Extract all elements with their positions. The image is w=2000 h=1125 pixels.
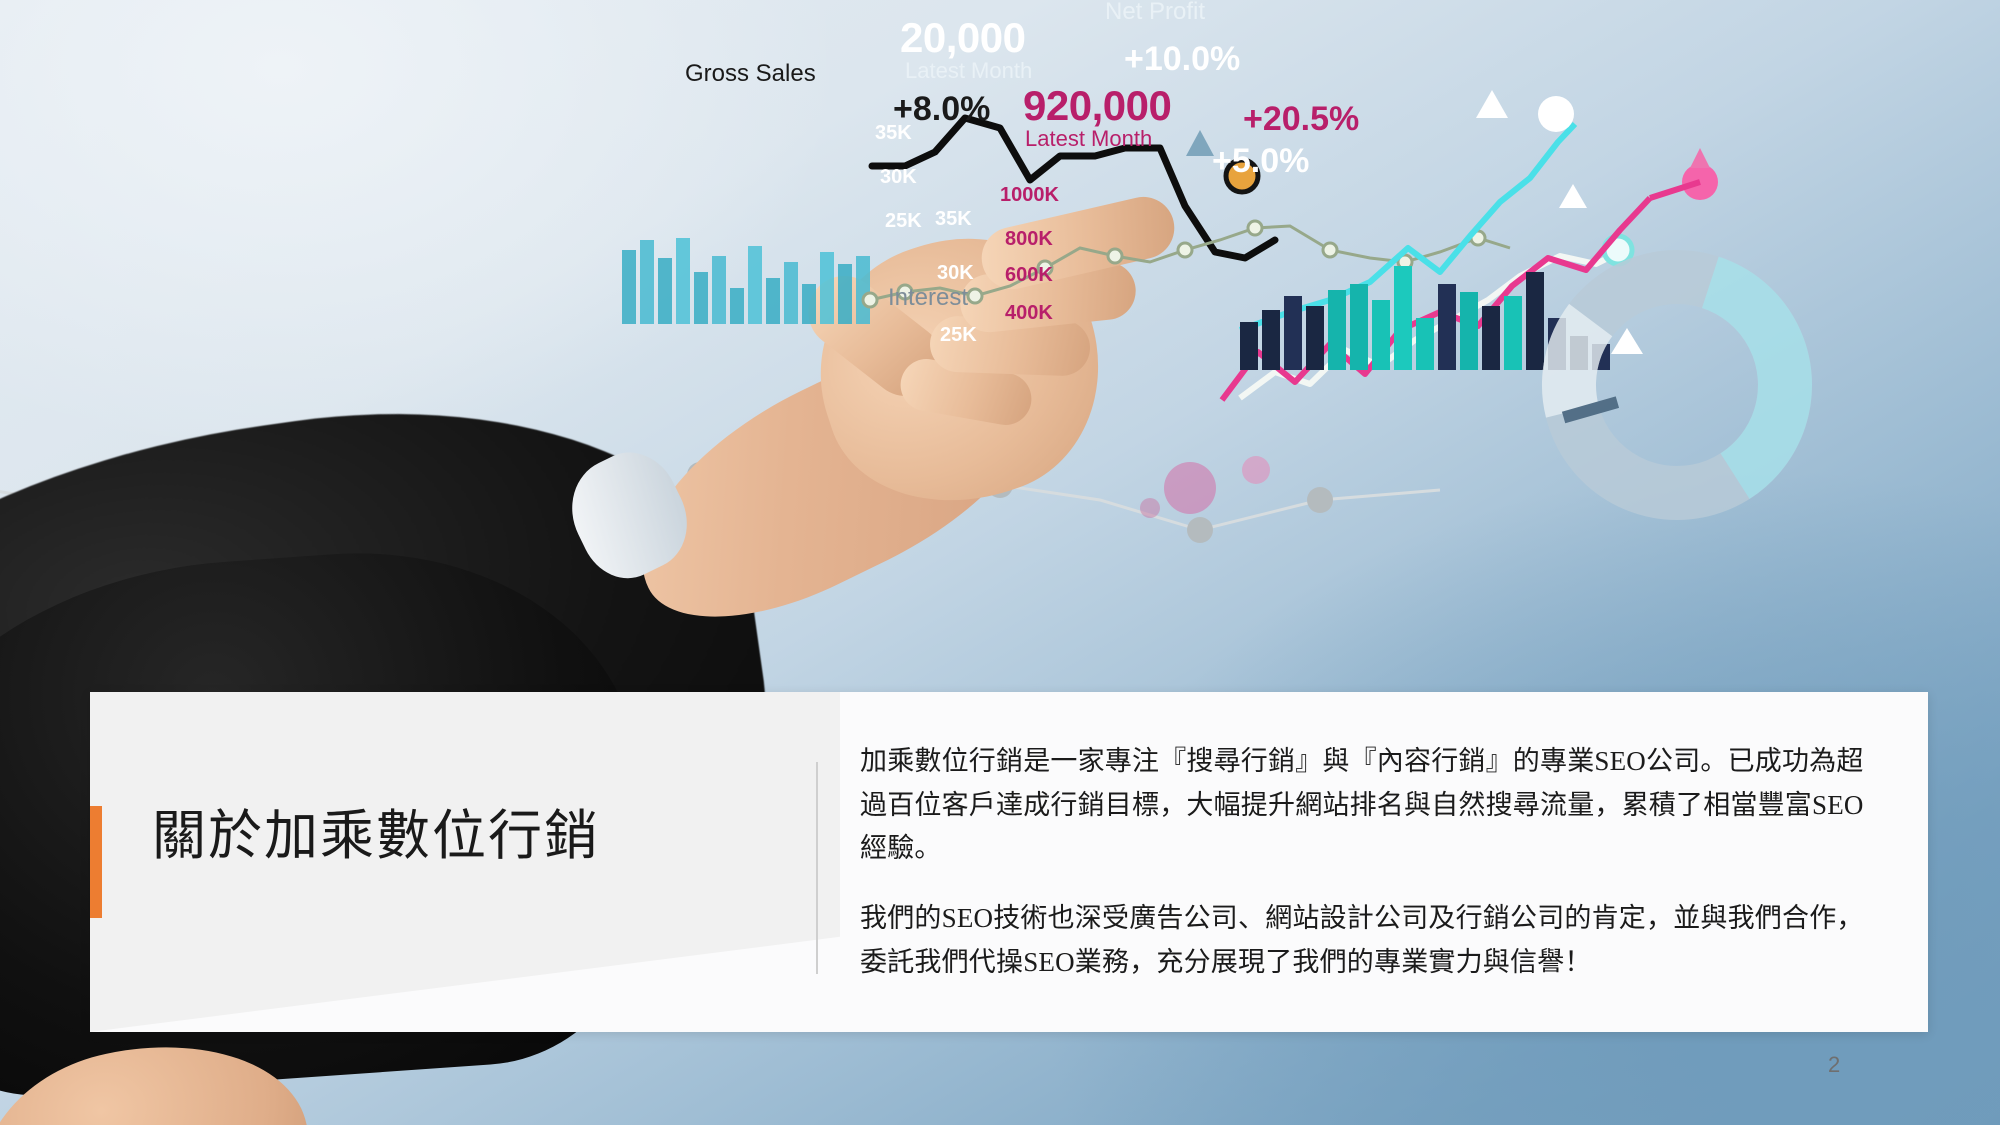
revenue-period: Latest Month bbox=[1025, 126, 1152, 152]
interest-label: Interest bbox=[888, 284, 968, 312]
axis-25k-lower: 25K bbox=[940, 324, 977, 347]
axis-800k: 800K bbox=[1005, 228, 1053, 251]
growth-change: +20.5% bbox=[1243, 100, 1359, 139]
body-text-column: 加乘數位行銷是一家專注『搜尋行銷』與『內容行銷』的專業SEO公司。已成功為超過百… bbox=[860, 740, 1890, 985]
body-paragraph-2: 我們的SEO技術也深受廣告公司、網站設計公司及行銷公司的肯定，並與我們合作，委託… bbox=[860, 897, 1890, 984]
content-card: 關於加乘數位行銷 加乘數位行銷是一家專注『搜尋行銷』與『內容行銷』的專業SEO公… bbox=[90, 692, 1928, 1032]
axis-1000k: 1000K bbox=[1000, 184, 1059, 207]
gross-sales-value: 20,000 bbox=[900, 14, 1025, 62]
gross-sales-period: Latest Month bbox=[905, 58, 1032, 84]
secondary-change: +5.0% bbox=[1212, 142, 1309, 181]
title-panel: 關於加乘數位行銷 bbox=[90, 692, 840, 1032]
vertical-divider bbox=[816, 762, 818, 974]
net-profit-label: Net Profit bbox=[1105, 0, 1205, 26]
axis-600k: 600K bbox=[1005, 264, 1053, 287]
page-number: 2 bbox=[1828, 1052, 1840, 1078]
axis-30k-upper: 30K bbox=[880, 166, 917, 189]
axis-25k-upper: 25K bbox=[885, 210, 922, 233]
axis-35k-mid: 35K bbox=[935, 208, 972, 231]
page-title: 關於加乘數位行銷 bbox=[152, 804, 772, 869]
axis-35k-upper: 35K bbox=[875, 122, 912, 145]
analytics-text-labels: Gross Sales 20,000 Latest Month +8.0% Ne… bbox=[0, 0, 2000, 520]
revenue-value: 920,000 bbox=[1023, 82, 1171, 130]
axis-400k: 400K bbox=[1005, 302, 1053, 325]
gross-sales-label: Gross Sales bbox=[685, 60, 816, 88]
net-profit-change: +10.0% bbox=[1124, 40, 1240, 79]
axis-30k-mid: 30K bbox=[937, 262, 974, 285]
presentation-slide: Gross Sales 20,000 Latest Month +8.0% Ne… bbox=[0, 0, 2000, 1125]
body-paragraph-1: 加乘數位行銷是一家專注『搜尋行銷』與『內容行銷』的專業SEO公司。已成功為超過百… bbox=[860, 740, 1890, 871]
